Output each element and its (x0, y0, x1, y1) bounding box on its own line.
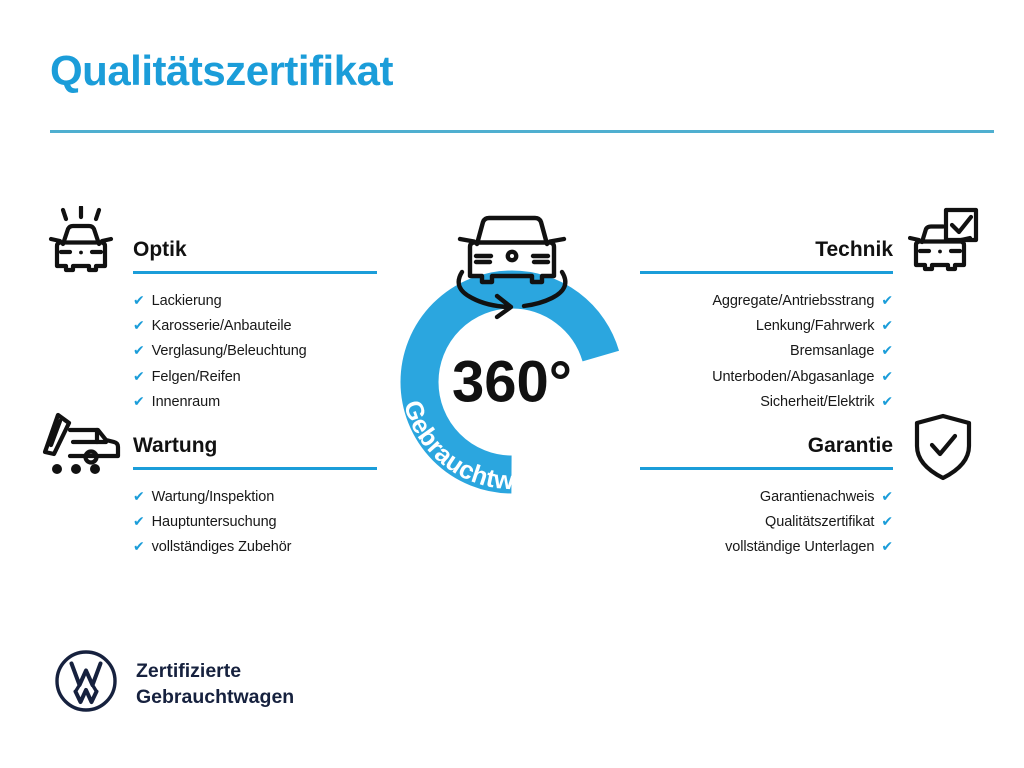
list-item-label: Verglasung/Beleuchtung (152, 343, 307, 359)
car-service-tool-icon (40, 412, 122, 483)
list-item-label: Lackierung (152, 293, 222, 309)
check-icon: ✔ (133, 534, 145, 558)
list-item-label: Qualitätszertifikat (765, 514, 874, 530)
check-icon: ✔ (881, 313, 893, 337)
check-icon: ✔ (881, 389, 893, 413)
list-item: ✔Wartung/Inspektion (133, 484, 377, 509)
list-item-label: Karosserie/Anbauteile (152, 318, 292, 334)
list-item: Unterboden/Abgasanlage✔ (640, 364, 893, 389)
footer-text: Zertifizierte Gebrauchtwagen (136, 658, 294, 710)
section-optik-title: Optik (133, 236, 377, 264)
list-item: ✔Hauptuntersuchung (133, 509, 377, 534)
list-item: ✔Felgen/Reifen (133, 364, 377, 389)
list-item-label: vollständiges Zubehör (152, 539, 292, 555)
car-checkbox-icon (908, 206, 980, 281)
list-item-label: Innenraum (152, 394, 220, 410)
list-item-label: Sicherheit/Elektrik (760, 394, 874, 410)
list-item: vollständige Unterlagen✔ (640, 534, 893, 559)
section-technik: Technik Aggregate/Antriebsstrang✔Lenkung… (640, 236, 893, 414)
list-item-label: Bremsanlage (790, 343, 874, 359)
list-item: Sicherheit/Elektrik✔ (640, 389, 893, 414)
list-item-label: Aggregate/Antriebsstrang (712, 293, 874, 309)
footer-line-1: Zertifizierte (136, 658, 294, 684)
list-item: Qualitätszertifikat✔ (640, 509, 893, 534)
check-icon: ✔ (881, 364, 893, 388)
section-technik-header: Technik (640, 236, 893, 274)
check-icon: ✔ (133, 288, 145, 312)
list-item: ✔Verglasung/Beleuchtung (133, 338, 377, 363)
list-item-label: Hauptuntersuchung (152, 514, 277, 530)
check-icon: ✔ (133, 364, 145, 388)
section-garantie-header: Garantie (640, 432, 893, 470)
check-icon: ✔ (133, 313, 145, 337)
list-item: Aggregate/Antriebsstrang✔ (640, 288, 893, 313)
section-wartung: Wartung ✔Wartung/Inspektion✔Hauptuntersu… (133, 432, 377, 560)
garantie-list: Garantienachweis✔Qualitätszertifikat✔vol… (640, 470, 893, 560)
section-wartung-divider (133, 467, 377, 470)
section-technik-title: Technik (640, 236, 893, 264)
check-icon: ✔ (881, 288, 893, 312)
list-item: ✔Karosserie/Anbauteile (133, 313, 377, 338)
list-item: Garantienachweis✔ (640, 484, 893, 509)
list-item: Lenkung/Fahrwerk✔ (640, 313, 893, 338)
section-garantie: Garantie Garantienachweis✔Qualitätszerti… (640, 432, 893, 560)
list-item: Bremsanlage✔ (640, 338, 893, 363)
list-item-label: Felgen/Reifen (152, 369, 241, 385)
section-garantie-divider (640, 467, 893, 470)
section-wartung-title: Wartung (133, 432, 377, 460)
technik-list: Aggregate/Antriebsstrang✔Lenkung/Fahrwer… (640, 274, 893, 414)
optik-list: ✔Lackierung✔Karosserie/Anbauteile✔Vergla… (133, 274, 377, 414)
page-title: Qualitätszertifikat (50, 50, 393, 92)
list-item-label: Lenkung/Fahrwerk (756, 318, 875, 334)
vw-logo (55, 650, 117, 717)
section-wartung-header: Wartung (133, 432, 377, 470)
list-item: ✔Lackierung (133, 288, 377, 313)
check-icon: ✔ (133, 338, 145, 362)
wartung-list: ✔Wartung/Inspektion✔Hauptuntersuchung✔vo… (133, 470, 377, 560)
list-item-label: Garantienachweis (760, 489, 874, 505)
car-shine-icon (44, 206, 118, 283)
list-item: ✔Innenraum (133, 389, 377, 414)
list-item-label: Wartung/Inspektion (152, 489, 275, 505)
check-icon: ✔ (881, 484, 893, 508)
list-item-label: vollständige Unterlagen (725, 539, 874, 555)
list-item-label: Unterboden/Abgasanlage (712, 369, 874, 385)
section-optik-header: Optik (133, 236, 377, 274)
gebrauchtwagen-check-badge: Gebrauchtwagen-Check 360° (372, 196, 652, 496)
title-divider (50, 130, 994, 133)
section-optik-divider (133, 271, 377, 274)
footer-brand: Zertifizierte Gebrauchtwagen (55, 650, 294, 717)
check-icon: ✔ (881, 509, 893, 533)
check-icon: ✔ (881, 338, 893, 362)
check-icon: ✔ (133, 389, 145, 413)
footer-line-2: Gebrauchtwagen (136, 684, 294, 710)
check-icon: ✔ (881, 534, 893, 558)
check-icon: ✔ (133, 484, 145, 508)
section-technik-divider (640, 271, 893, 274)
badge-center-label: 360° (452, 350, 572, 415)
section-garantie-title: Garantie (640, 432, 893, 460)
shield-check-icon (912, 412, 974, 487)
list-item: ✔vollständiges Zubehör (133, 534, 377, 559)
section-optik: Optik ✔Lackierung✔Karosserie/Anbauteile✔… (133, 236, 377, 414)
check-icon: ✔ (133, 509, 145, 533)
